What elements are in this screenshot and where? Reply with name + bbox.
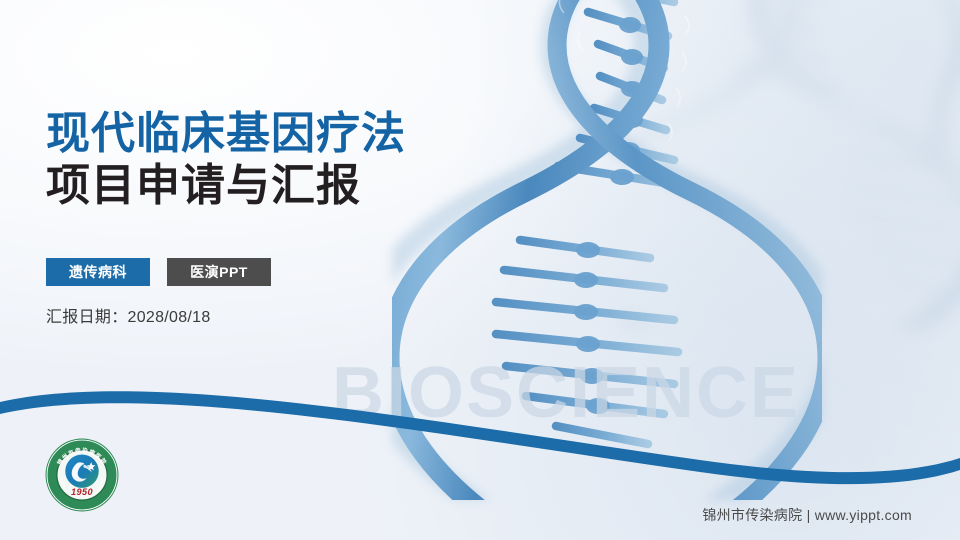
title-line-2: 项目申请与汇报: [46, 160, 516, 212]
title-line-1: 现代临床基因疗法: [46, 108, 516, 160]
page-title: 现代临床基因疗法 项目申请与汇报: [46, 108, 516, 212]
report-date: 汇报日期：2028/08/18: [46, 303, 211, 327]
badge-template: 医演PPT: [167, 258, 271, 286]
badge-row: 遗传病科 医演PPT: [46, 258, 271, 286]
footer-credit: 锦州市传染病院 | www.yippt.com: [702, 505, 912, 525]
badge-department: 遗传病科: [46, 258, 150, 286]
hospital-seal-logo-icon: 锦州市传染病医院 INFECTIOUS DISEASE HOSPITAL OF …: [44, 437, 120, 513]
title-slide: BIOSCIENCE 现代临床基因疗法 项目申请与汇报 遗传病科 医演PPT 汇…: [0, 0, 960, 540]
svg-text:1950: 1950: [71, 487, 93, 497]
